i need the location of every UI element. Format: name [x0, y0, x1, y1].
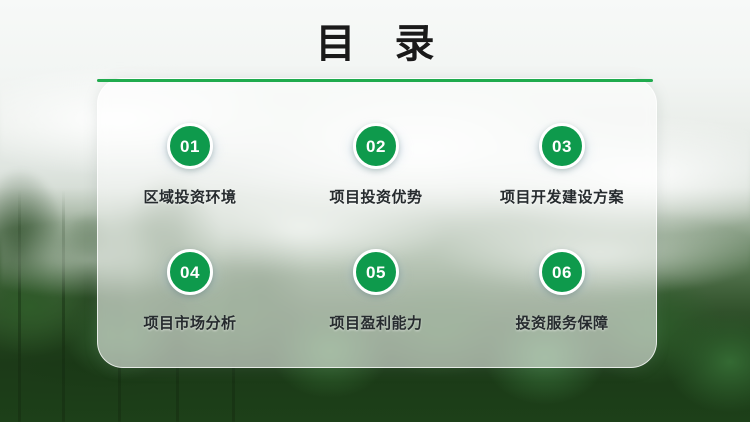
- badge-wrapper-02: 02: [349, 119, 403, 173]
- toc-item-label-01: 区域投资环境: [143, 186, 236, 207]
- toc-item-03[interactable]: 03 项目开发建设方案: [469, 100, 655, 226]
- number-badge-06: 06: [539, 249, 585, 295]
- badge-wrapper-06: 06: [535, 245, 589, 299]
- title-divider: [97, 79, 653, 82]
- toc-item-06[interactable]: 06 投资服务保障: [469, 226, 655, 352]
- badge-wrapper-01: 01: [163, 119, 217, 173]
- toc-item-label-05: 项目盈利能力: [329, 312, 422, 333]
- toc-item-01[interactable]: 01 区域投资环境: [97, 100, 283, 226]
- toc-item-label-06: 投资服务保障: [515, 312, 608, 333]
- badge-wrapper-05: 05: [349, 245, 403, 299]
- number-badge-02: 02: [353, 123, 399, 169]
- page-title: 目 录: [0, 20, 750, 68]
- toc-item-05[interactable]: 05 项目盈利能力: [283, 226, 469, 352]
- toc-item-label-03: 项目开发建设方案: [500, 186, 624, 207]
- number-badge-01: 01: [167, 123, 213, 169]
- presentation-slide: 目 录 01 区域投资环境 02 项目投资优势 03 项目开发建设方案: [0, 0, 750, 422]
- toc-item-04[interactable]: 04 项目市场分析: [97, 226, 283, 352]
- badge-wrapper-03: 03: [535, 119, 589, 173]
- number-badge-05: 05: [353, 249, 399, 295]
- toc-item-label-04: 项目市场分析: [143, 312, 236, 333]
- toc-item-02[interactable]: 02 项目投资优势: [283, 100, 469, 226]
- toc-grid: 01 区域投资环境 02 项目投资优势 03 项目开发建设方案 04 项目市场分…: [97, 100, 655, 352]
- badge-wrapper-04: 04: [163, 245, 217, 299]
- number-badge-04: 04: [167, 249, 213, 295]
- toc-item-label-02: 项目投资优势: [329, 186, 422, 207]
- number-badge-03: 03: [539, 123, 585, 169]
